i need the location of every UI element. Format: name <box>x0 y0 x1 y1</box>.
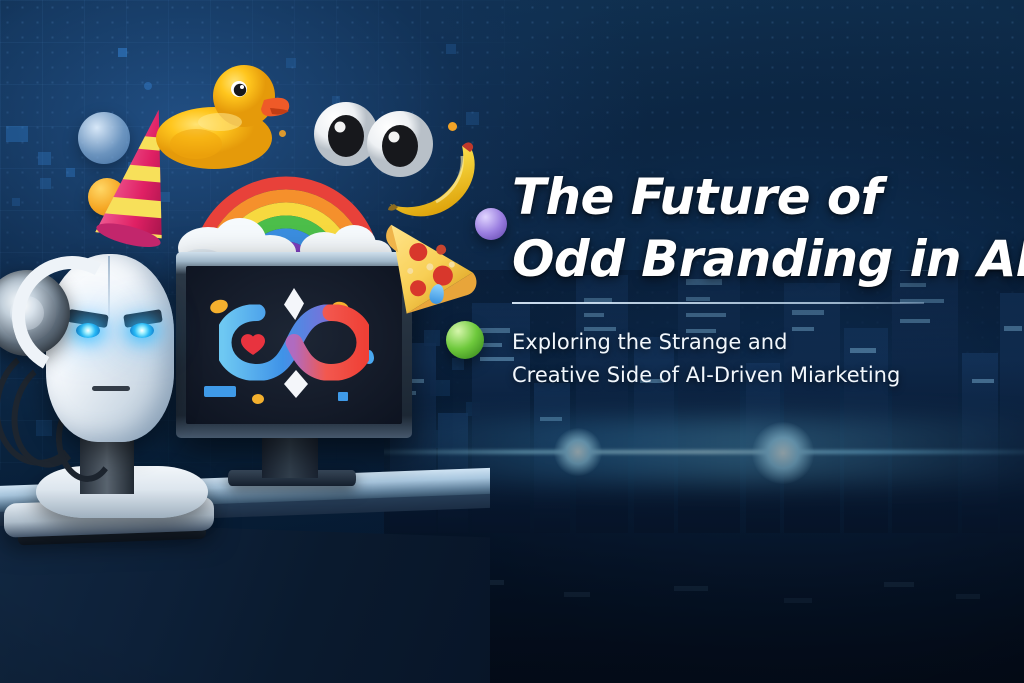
green-marble <box>446 321 484 359</box>
confetti-dot <box>448 122 457 131</box>
title-divider <box>512 302 924 304</box>
monitor-screen <box>186 266 402 424</box>
robot-mouth <box>92 386 130 391</box>
purple-marble <box>475 208 507 240</box>
deco-square <box>466 112 479 125</box>
robot-eye-right <box>130 323 154 338</box>
robot-head <box>0 250 214 520</box>
hero-text-block: The Future of Odd Branding in AI Explori… <box>512 166 982 396</box>
confetti-dot <box>252 394 264 404</box>
deco-square <box>446 44 456 54</box>
deco-dot <box>144 82 152 90</box>
infinity-logo <box>219 305 369 386</box>
pizza-slice <box>375 210 484 326</box>
deco-square <box>118 48 127 57</box>
deco-square <box>6 126 28 142</box>
rubber-duck <box>152 56 292 172</box>
monitor-stand <box>262 436 318 478</box>
deco-square <box>40 178 51 189</box>
deco-square <box>38 152 51 165</box>
page-title-line-1: The Future of <box>512 166 982 228</box>
deco-square <box>66 168 75 177</box>
desk-front <box>0 520 490 683</box>
page-title-line-2: Odd Branding in AI <box>512 228 982 290</box>
hero-banner: The Future of Odd Branding in AI Explori… <box>0 0 1024 683</box>
confetti-dot <box>279 130 286 137</box>
confetti-square <box>338 392 348 401</box>
deco-square <box>12 198 20 206</box>
page-subtitle-line-2: Creative Side of AI-Driven Miarketing <box>512 355 982 396</box>
